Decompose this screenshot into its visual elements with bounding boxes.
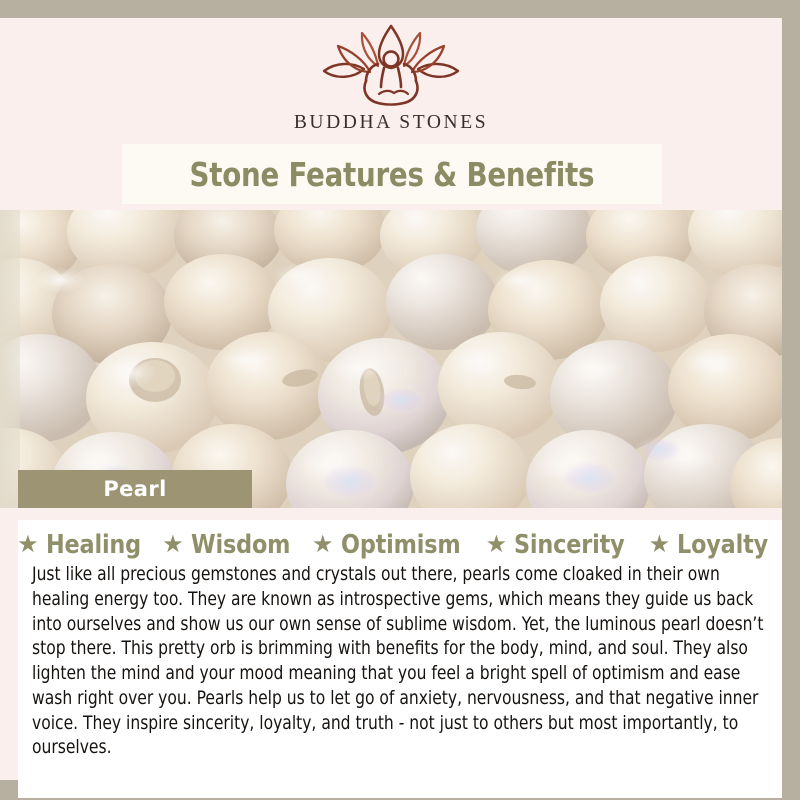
- infographic-page: BUDDHA STONES Stone Features & Benefits: [0, 0, 800, 800]
- lotus-meditation-figure-icon: [316, 24, 466, 110]
- page-title: Stone Features & Benefits: [190, 155, 595, 194]
- pearl-photo-graphic: [0, 210, 782, 508]
- brand-logo-block: BUDDHA STONES: [0, 18, 782, 140]
- star-icon: ★: [649, 533, 671, 557]
- pink-panel: BUDDHA STONES Stone Features & Benefits: [0, 18, 782, 780]
- benefit-keyword-row: ★ Healing ★ Wisdom ★ Optimism ★ Sincerit…: [32, 528, 768, 562]
- star-icon: ★: [486, 533, 508, 557]
- benefit-keyword-label: Optimism: [341, 530, 461, 560]
- benefit-keyword-sincerity: ★ Sincerity: [486, 530, 643, 560]
- benefit-keyword-wisdom: ★ Wisdom: [162, 530, 306, 560]
- stone-name-banner: Pearl: [18, 470, 252, 508]
- benefit-keyword-healing: ★ Healing: [17, 530, 156, 560]
- star-icon: ★: [312, 533, 334, 557]
- benefit-keyword-label: Wisdom: [191, 530, 290, 560]
- benefit-keyword-label: Healing: [46, 530, 141, 560]
- stone-name-label: Pearl: [103, 477, 166, 501]
- star-icon: ★: [162, 533, 184, 557]
- title-strip: Stone Features & Benefits: [122, 144, 662, 204]
- description-paragraph: Just like all precious gemstones and cry…: [32, 563, 766, 761]
- benefit-keyword-loyalty: ★ Loyalty: [649, 530, 783, 560]
- brand-wordmark: BUDDHA STONES: [294, 112, 488, 134]
- content-card: ★ Healing ★ Wisdom ★ Optimism ★ Sincerit…: [18, 520, 782, 798]
- benefit-keyword-label: Loyalty: [677, 530, 768, 560]
- benefit-keyword-optimism: ★ Optimism: [312, 530, 480, 560]
- benefit-keyword-label: Sincerity: [514, 530, 625, 560]
- photo-left-overlay: [0, 210, 20, 508]
- pearl-photo: [0, 210, 782, 508]
- star-icon: ★: [17, 533, 39, 557]
